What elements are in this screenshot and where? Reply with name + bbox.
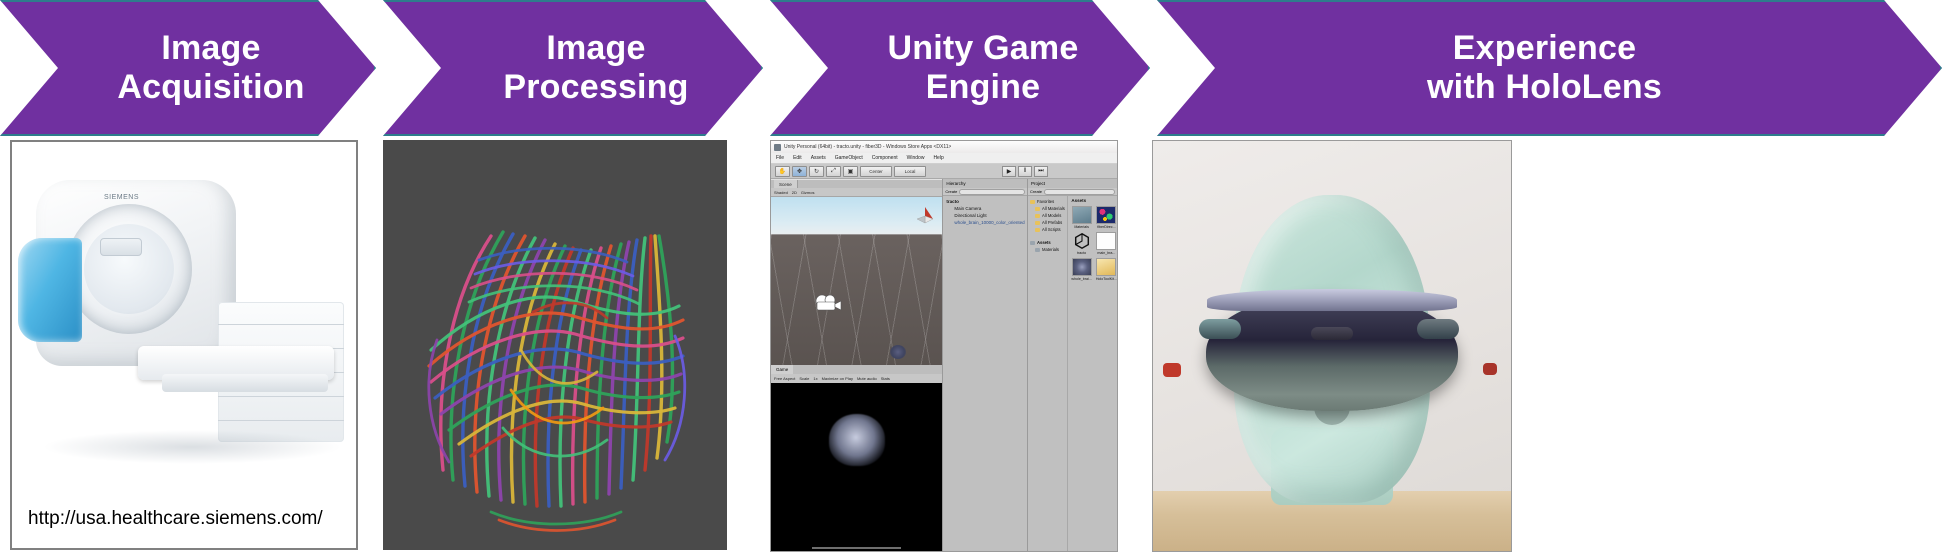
favorite-all-models[interactable]: All Models: [1030, 212, 1067, 219]
hierarchy-item-directional-light[interactable]: Directional Light: [946, 212, 1027, 219]
folder-icon: [1035, 221, 1040, 225]
panel-unity-editor: Unity Personal (64bit) - tracto.unity - …: [770, 140, 1118, 552]
unity-play-controls[interactable]: ▶ ‖ ⏭: [1002, 166, 1048, 177]
asset-item[interactable]: Materials: [1071, 206, 1091, 229]
game-aspect-select[interactable]: Free Aspect: [774, 376, 795, 381]
pipeline-step-image-processing[interactable]: Image Processing: [383, 0, 763, 136]
mri-brand-label: SIEMENS: [104, 194, 139, 201]
project-tab[interactable]: Project: [1028, 179, 1117, 188]
panel-image-acquisition: SIEMENS http://usa.healthcare.siemens.co…: [10, 140, 358, 550]
pipeline-step-label: Image Processing: [457, 29, 688, 108]
folder-icon: [1035, 248, 1040, 252]
unity-scene-icon: [1073, 232, 1091, 250]
hierarchy-item-main-camera[interactable]: Main Camera: [946, 205, 1027, 212]
asset-item[interactable]: tracto: [1071, 232, 1091, 255]
mri-patient-table-rail: [162, 374, 328, 392]
fiber-tracts-svg: [383, 140, 727, 550]
pipeline-figure: Image Acquisition Image Processing Unity…: [0, 0, 1942, 554]
unity-logo-icon: [774, 144, 781, 151]
pipeline-arrow-band: Image Acquisition Image Processing Unity…: [0, 0, 1942, 136]
folder-icon: [1035, 228, 1040, 232]
asset-item[interactable]: HoloToolKit...: [1096, 258, 1117, 281]
assets-grid-pane[interactable]: Assets Materials fiberDirec...: [1067, 196, 1117, 551]
mri-scanner-photo: SIEMENS: [12, 142, 356, 494]
game-view-tab[interactable]: Game: [771, 365, 942, 374]
game-view-toolbar[interactable]: Free Aspect Scale 1x Maximize on Play Mu…: [771, 374, 942, 383]
hierarchy-item-brain-model[interactable]: whole_brain_10000_color_oriented: [946, 219, 1027, 226]
mri-floor-shadow: [42, 430, 342, 464]
folder-icon: [1035, 207, 1040, 211]
folder-icon: [1030, 241, 1035, 245]
pivot-local-button[interactable]: Local: [894, 166, 926, 177]
hierarchy-tab-label[interactable]: Hierarchy: [946, 181, 965, 186]
unity-viewport-column: Scene Shaded 2D Gizmos: [771, 179, 942, 551]
unity-title-bar: Unity Personal (64bit) - tracto.unity - …: [771, 141, 1117, 153]
assets-grid[interactable]: Materials fiberDirec...: [1071, 206, 1117, 281]
scale-tool-icon[interactable]: ⤢: [826, 166, 841, 177]
assets-breadcrumb: Assets: [1071, 198, 1117, 203]
unity-menu-file[interactable]: File: [776, 155, 784, 161]
mri-bore: [66, 204, 192, 334]
unity-menu-assets[interactable]: Assets: [811, 155, 826, 161]
hierarchy-tree[interactable]: tracto Main Camera Directional Light who…: [943, 196, 1027, 226]
game-view-scrollbar[interactable]: [812, 547, 901, 549]
hololens-arm-left: [1163, 363, 1181, 377]
project-search-input[interactable]: [1044, 189, 1115, 195]
game-mute-toggle[interactable]: Mute audio: [857, 376, 877, 381]
step-button[interactable]: ⏭: [1034, 166, 1048, 177]
unity-toolbar[interactable]: ✋ ✥ ↻ ⤢ ▣ Center Local ▶ ‖ ⏭: [771, 164, 1117, 179]
model-thumbnail: [1072, 258, 1092, 276]
game-tab-label[interactable]: Game: [771, 365, 793, 374]
game-scale-label: Scale: [799, 376, 809, 381]
favorite-all-scripts[interactable]: All Scripts: [1030, 226, 1067, 233]
texture-thumbnail: [1096, 206, 1116, 224]
folder-icon: [1035, 214, 1040, 218]
camera-gizmo-icon: [813, 293, 843, 313]
asset-item[interactable]: main_bra...: [1096, 232, 1117, 255]
file-icon: [1096, 232, 1116, 250]
mri-blue-accent: [18, 238, 82, 342]
panel-image-processing: [383, 140, 727, 550]
favorite-all-prefabs[interactable]: All Prefabs: [1030, 219, 1067, 226]
unity-menu-component[interactable]: Component: [872, 155, 898, 161]
pipeline-step-label: Image Acquisition: [71, 29, 304, 108]
source-url-caption: http://usa.healthcare.siemens.com/: [12, 494, 356, 530]
unity-menu-window[interactable]: Window: [907, 155, 925, 161]
hololens-depth-camera: [1311, 327, 1353, 340]
pipeline-step-experience-hololens[interactable]: Experience with HoloLens: [1157, 0, 1942, 136]
unity-hierarchy-panel: Hierarchy Create tracto Main Camera Dire…: [942, 179, 1027, 551]
scene-orientation-gizmo-icon[interactable]: [912, 203, 938, 229]
favorite-all-materials[interactable]: All Materials: [1030, 205, 1067, 212]
unity-window-title: Unity Personal (64bit) - tracto.unity - …: [784, 144, 951, 150]
pipeline-step-image-acquisition[interactable]: Image Acquisition: [0, 0, 376, 136]
panel-hololens-photo: [1152, 140, 1512, 552]
game-stats-toggle[interactable]: Stats: [881, 376, 890, 381]
package-icon: [1096, 258, 1116, 276]
dti-tractography-render: [383, 140, 727, 550]
asset-item[interactable]: whole_brai...: [1071, 258, 1091, 281]
rendered-brain-tracts: [829, 414, 885, 466]
pause-button[interactable]: ‖: [1018, 166, 1032, 177]
scene-view-viewport[interactable]: [771, 197, 942, 365]
hololens-headband: [1207, 289, 1457, 311]
scene-2d-toggle[interactable]: 2D: [792, 190, 797, 195]
assets-tree-materials[interactable]: Materials: [1030, 246, 1067, 253]
hierarchy-tab[interactable]: Hierarchy: [943, 179, 1027, 188]
play-button[interactable]: ▶: [1002, 166, 1016, 177]
scene-gizmos-toggle[interactable]: Gizmos: [801, 190, 815, 195]
favorites-label: Favorites: [1030, 198, 1067, 205]
unity-menu-gameobject[interactable]: GameObject: [835, 155, 863, 161]
hierarchy-create-row[interactable]: Create: [943, 188, 1027, 196]
game-maximize-toggle[interactable]: Maximize on Play: [822, 376, 853, 381]
unity-project-panel: Project Create Favorites All Materi: [1027, 179, 1117, 551]
hand-tool-icon[interactable]: ✋: [775, 166, 790, 177]
scene-view-tab[interactable]: Scene: [771, 179, 942, 188]
hololens-sensor-right: [1417, 319, 1459, 339]
project-tree[interactable]: Favorites All Materials All Models: [1028, 196, 1067, 551]
hololens-arm-right: [1483, 363, 1497, 375]
scene-grid: [771, 234, 942, 365]
hierarchy-search-input[interactable]: [959, 189, 1025, 195]
rotate-tool-icon[interactable]: ↻: [809, 166, 824, 177]
rect-tool-icon[interactable]: ▣: [843, 166, 858, 177]
hololens-sensor-left: [1199, 319, 1241, 339]
folder-icon: [1030, 200, 1035, 204]
project-create-row[interactable]: Create: [1028, 188, 1117, 196]
unity-menu-help[interactable]: Help: [933, 155, 943, 161]
folder-icon: [1072, 206, 1092, 224]
hierarchy-create-button[interactable]: Create: [945, 189, 957, 194]
game-scale-value: 1x: [813, 376, 817, 381]
unity-workspace: Scene Shaded 2D Gizmos: [771, 179, 1117, 551]
scene-view-toolbar[interactable]: Shaded 2D Gizmos: [771, 188, 942, 197]
scene-shading-mode[interactable]: Shaded: [774, 190, 788, 195]
pipeline-step-label: Experience with HoloLens: [1397, 29, 1702, 108]
project-browser: Favorites All Materials All Models: [1028, 196, 1117, 551]
pipeline-step-label: Unity Game Engine: [842, 29, 1079, 108]
project-tab-label[interactable]: Project: [1031, 181, 1045, 186]
hierarchy-item-scene[interactable]: tracto: [946, 198, 1027, 205]
asset-item[interactable]: fiberDirec...: [1096, 206, 1117, 229]
unity-menu-edit[interactable]: Edit: [793, 155, 802, 161]
game-view-viewport[interactable]: [771, 383, 942, 551]
pivot-center-button[interactable]: Center: [860, 166, 892, 177]
assets-tree-root[interactable]: Assets: [1030, 239, 1067, 246]
move-tool-icon[interactable]: ✥: [792, 166, 807, 177]
mri-control-panel: [100, 238, 142, 256]
pipeline-step-unity-game-engine[interactable]: Unity Game Engine: [770, 0, 1150, 136]
unity-menu-bar[interactable]: File Edit Assets GameObject Component Wi…: [771, 153, 1117, 164]
project-create-button[interactable]: Create: [1030, 189, 1042, 194]
